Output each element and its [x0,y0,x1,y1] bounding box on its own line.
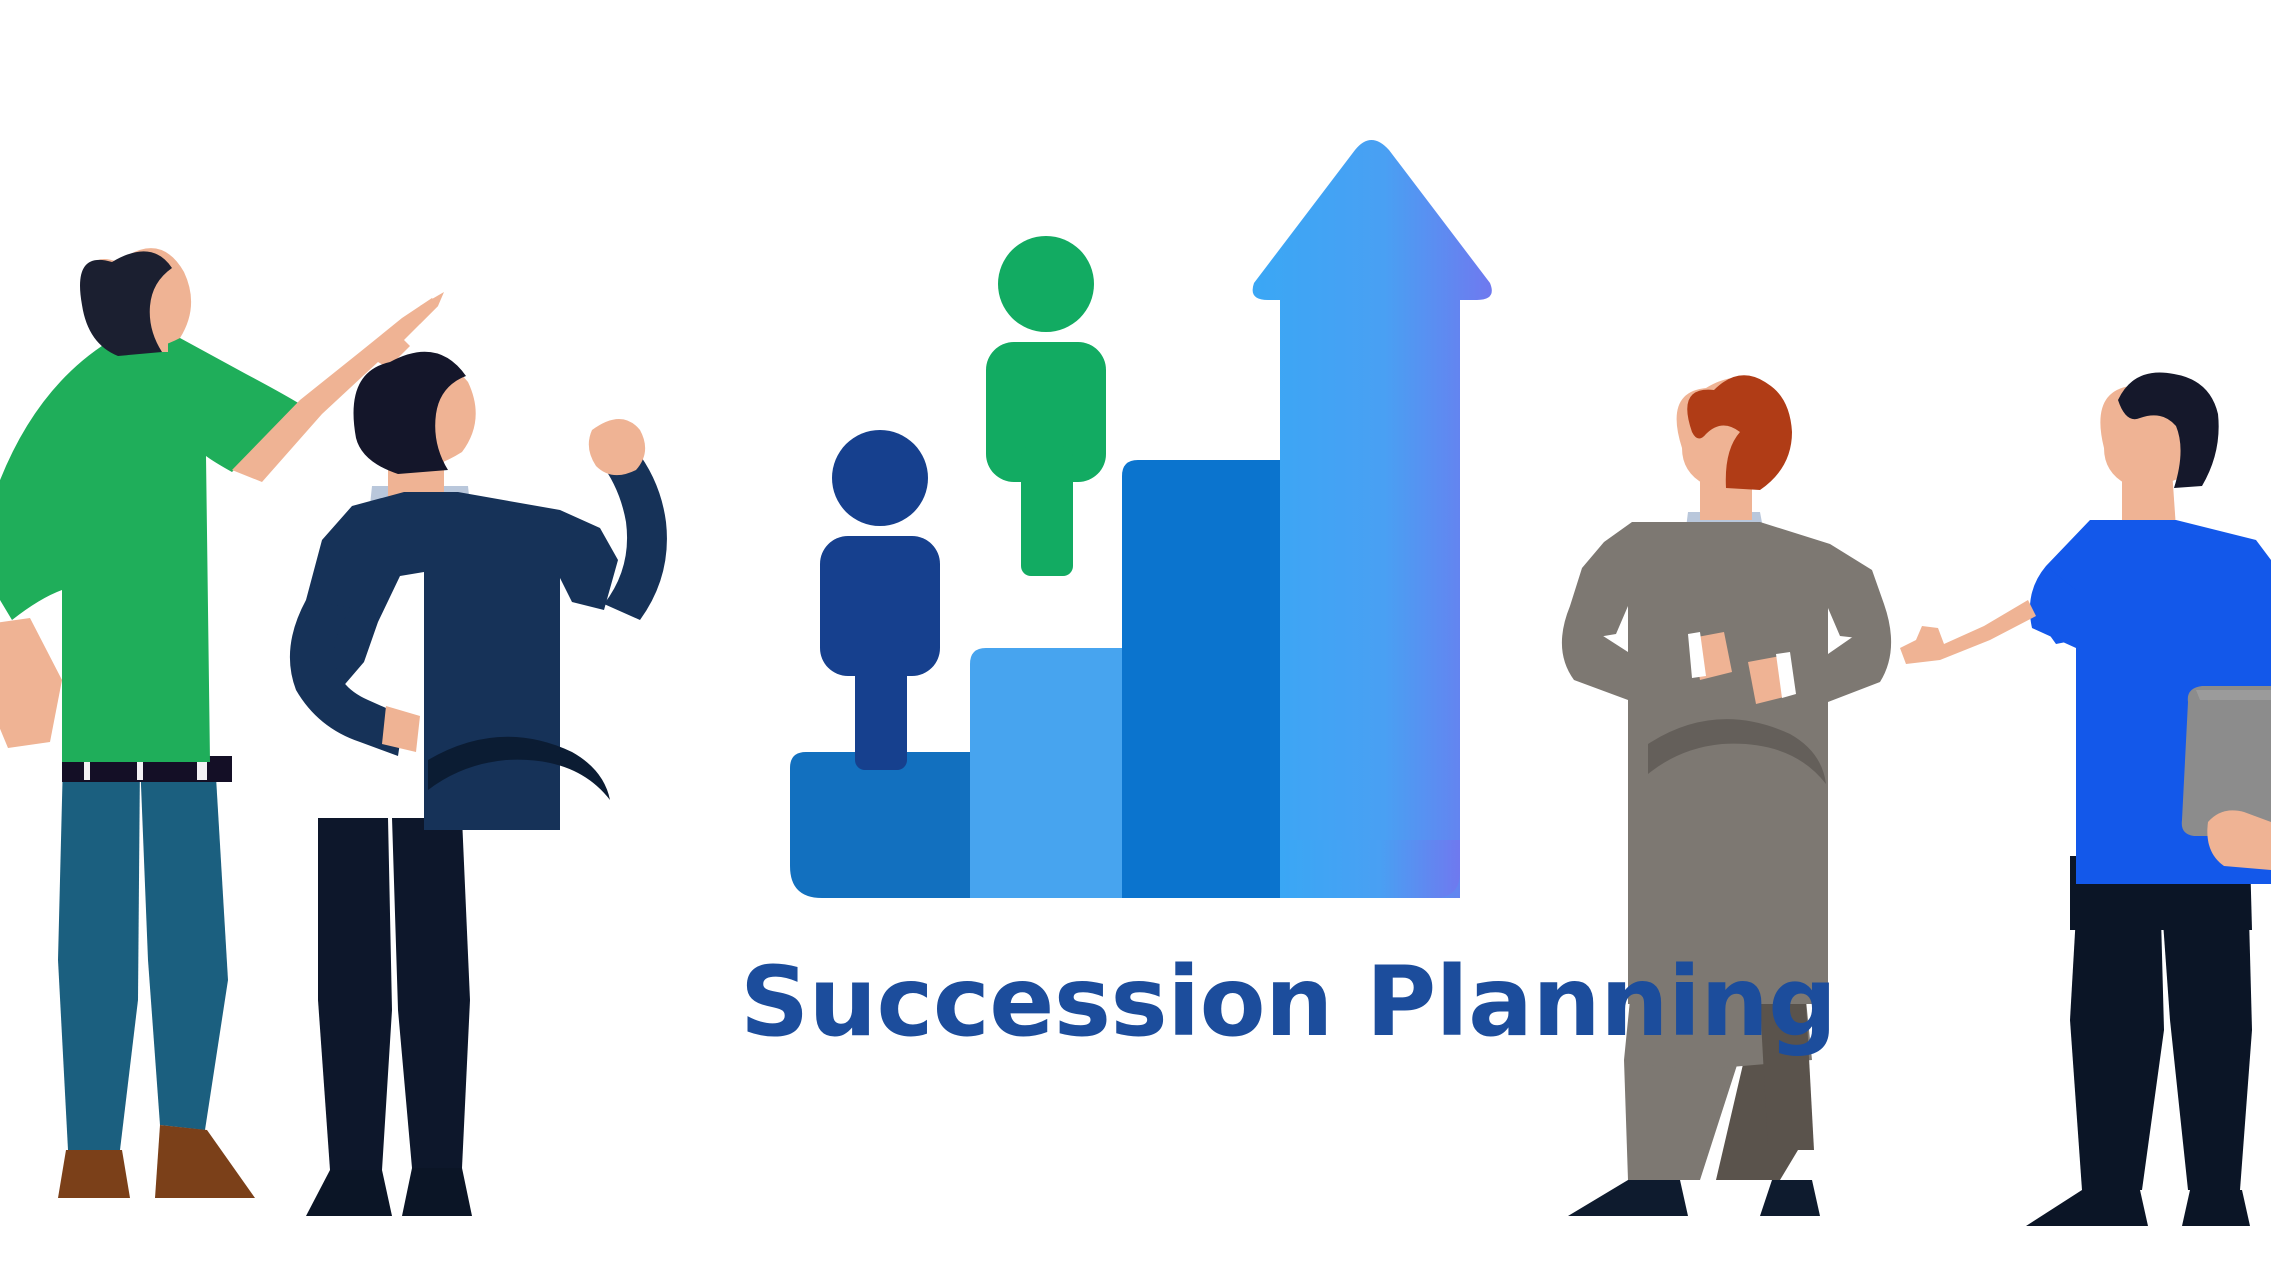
bar-3 [1122,460,1280,898]
blue-figure-right-shoe [2182,1190,2250,1226]
bar-2 [970,648,1122,898]
navy-figure-right-shoe [402,1168,472,1216]
page-title: Succession Planning [740,946,1837,1058]
navy-figure-raised-fist [589,419,645,475]
upward-growth-arrow [1253,140,1492,898]
illustration-canvas: Succession Planning [0,0,2271,1278]
navy-figure-left-leg [318,818,392,1170]
green-figure-left-shoe [58,1150,130,1198]
bar-1 [790,752,970,898]
succession-planning-illustration: Succession Planning [0,0,2271,1278]
laptop-edge [2196,690,2271,700]
